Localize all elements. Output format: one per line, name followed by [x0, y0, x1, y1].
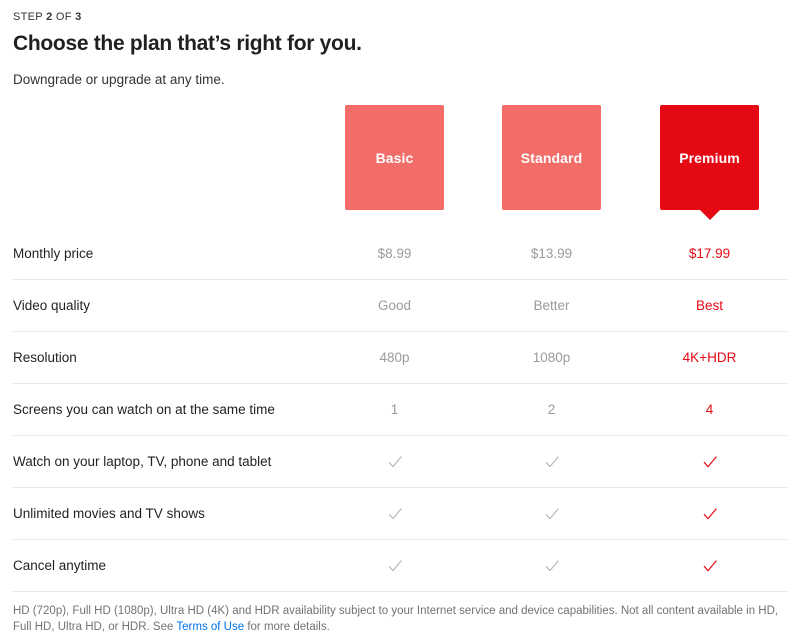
- cell-premium: 4: [660, 401, 759, 419]
- check-icon: [701, 557, 719, 575]
- table-row: Video quality Good Better Best: [13, 279, 787, 331]
- step-prefix: STEP: [13, 11, 43, 23]
- check-icon: [701, 505, 719, 523]
- terms-of-use-link[interactable]: Terms of Use: [176, 621, 244, 633]
- page-subtitle: Downgrade or upgrade at any time.: [13, 71, 787, 89]
- plan-card-standard[interactable]: Standard: [502, 105, 601, 210]
- cell-standard: Better: [502, 297, 601, 315]
- check-icon: [543, 557, 561, 575]
- cell-basic: [345, 505, 444, 523]
- cell-premium: [660, 505, 759, 523]
- step-middle: OF: [56, 11, 72, 23]
- cell-premium: Best: [660, 297, 759, 315]
- plan-selection-page: STEP 2 OF 3 Choose the plan that’s right…: [0, 0, 800, 614]
- cell-standard: 1080p: [502, 349, 601, 367]
- plan-cards-row: Basic Standard Premium: [13, 105, 787, 217]
- row-label: Unlimited movies and TV shows: [13, 505, 205, 523]
- row-label: Resolution: [13, 349, 77, 367]
- cell-standard: 2: [502, 401, 601, 419]
- cell-premium: [660, 453, 759, 471]
- table-row: Resolution 480p 1080p 4K+HDR: [13, 331, 787, 383]
- selected-plan-pointer-icon: [699, 209, 721, 220]
- cell-standard: [502, 557, 601, 575]
- check-icon: [386, 505, 404, 523]
- cell-standard: [502, 505, 601, 523]
- page-title: Choose the plan that’s right for you.: [13, 31, 787, 57]
- table-row: Cancel anytime: [13, 539, 787, 591]
- row-label: Monthly price: [13, 245, 93, 263]
- table-row: Monthly price $8.99 $13.99 $17.99: [13, 228, 787, 279]
- cell-premium: 4K+HDR: [660, 349, 759, 367]
- cell-basic: 1: [345, 401, 444, 419]
- check-icon: [543, 453, 561, 471]
- row-label: Video quality: [13, 297, 90, 315]
- table-row: Screens you can watch on at the same tim…: [13, 383, 787, 435]
- check-icon: [701, 453, 719, 471]
- cell-basic: [345, 557, 444, 575]
- row-label: Screens you can watch on at the same tim…: [13, 401, 275, 419]
- step-indicator: STEP 2 OF 3: [13, 0, 787, 24]
- plan-comparison-table: Monthly price $8.99 $13.99 $17.99 Video …: [13, 228, 787, 591]
- disclaimer-before: HD (720p), Full HD (1080p), Ultra HD (4K…: [13, 605, 778, 633]
- disclaimer-text: HD (720p), Full HD (1080p), Ultra HD (4K…: [13, 603, 787, 635]
- check-icon: [543, 505, 561, 523]
- check-icon: [386, 453, 404, 471]
- disclaimer-after: for more details.: [244, 621, 330, 633]
- step-total: 3: [75, 11, 81, 23]
- plan-card-label: Basic: [376, 150, 414, 166]
- cell-standard: $13.99: [502, 245, 601, 263]
- cell-standard: [502, 453, 601, 471]
- cell-basic: [345, 453, 444, 471]
- cell-premium: [660, 557, 759, 575]
- check-icon: [386, 557, 404, 575]
- cell-basic: $8.99: [345, 245, 444, 263]
- plan-card-premium[interactable]: Premium: [660, 105, 759, 210]
- step-current: 2: [46, 11, 52, 23]
- footer-divider: [13, 591, 787, 592]
- row-label: Watch on your laptop, TV, phone and tabl…: [13, 453, 271, 471]
- plan-card-label: Standard: [521, 150, 582, 166]
- cell-basic: 480p: [345, 349, 444, 367]
- table-row: Unlimited movies and TV shows: [13, 487, 787, 539]
- cell-basic: Good: [345, 297, 444, 315]
- table-row: Watch on your laptop, TV, phone and tabl…: [13, 435, 787, 487]
- row-label: Cancel anytime: [13, 557, 106, 575]
- cell-premium: $17.99: [660, 245, 759, 263]
- plan-card-basic[interactable]: Basic: [345, 105, 444, 210]
- plan-card-label: Premium: [679, 150, 740, 166]
